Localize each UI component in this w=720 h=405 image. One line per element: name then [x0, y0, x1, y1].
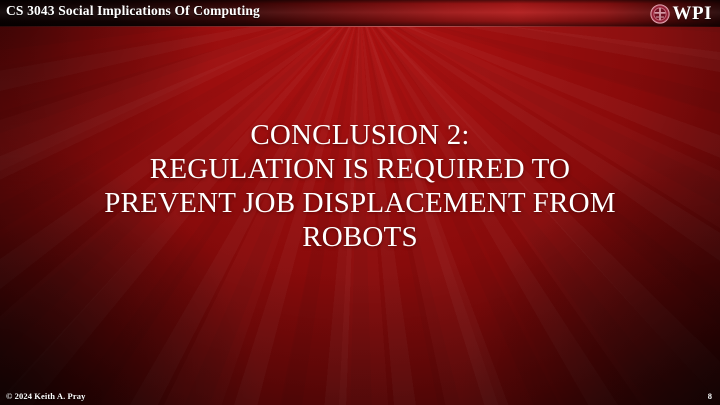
slide-title-line-4: ROBOTS	[40, 220, 680, 254]
wpi-wordmark: WPI	[673, 4, 713, 23]
wpi-logo: WPI	[650, 1, 713, 26]
copyright-notice: © 2024 Keith A. Pray	[6, 391, 85, 401]
slide-title-line-2: REGULATION IS REQUIRED TO	[40, 152, 680, 186]
page-number: 8	[708, 391, 712, 401]
wpi-seal-icon	[650, 4, 670, 24]
presentation-slide: CS 3043 Social Implications Of Computing…	[0, 0, 720, 405]
slide-title-line-1: CONCLUSION 2:	[40, 118, 680, 152]
slide-title-line-3: PREVENT JOB DISPLACEMENT FROM	[40, 186, 680, 220]
slide-title: CONCLUSION 2: REGULATION IS REQUIRED TO …	[40, 118, 680, 254]
header-divider	[0, 26, 720, 27]
course-title: CS 3043 Social Implications Of Computing	[6, 3, 260, 19]
